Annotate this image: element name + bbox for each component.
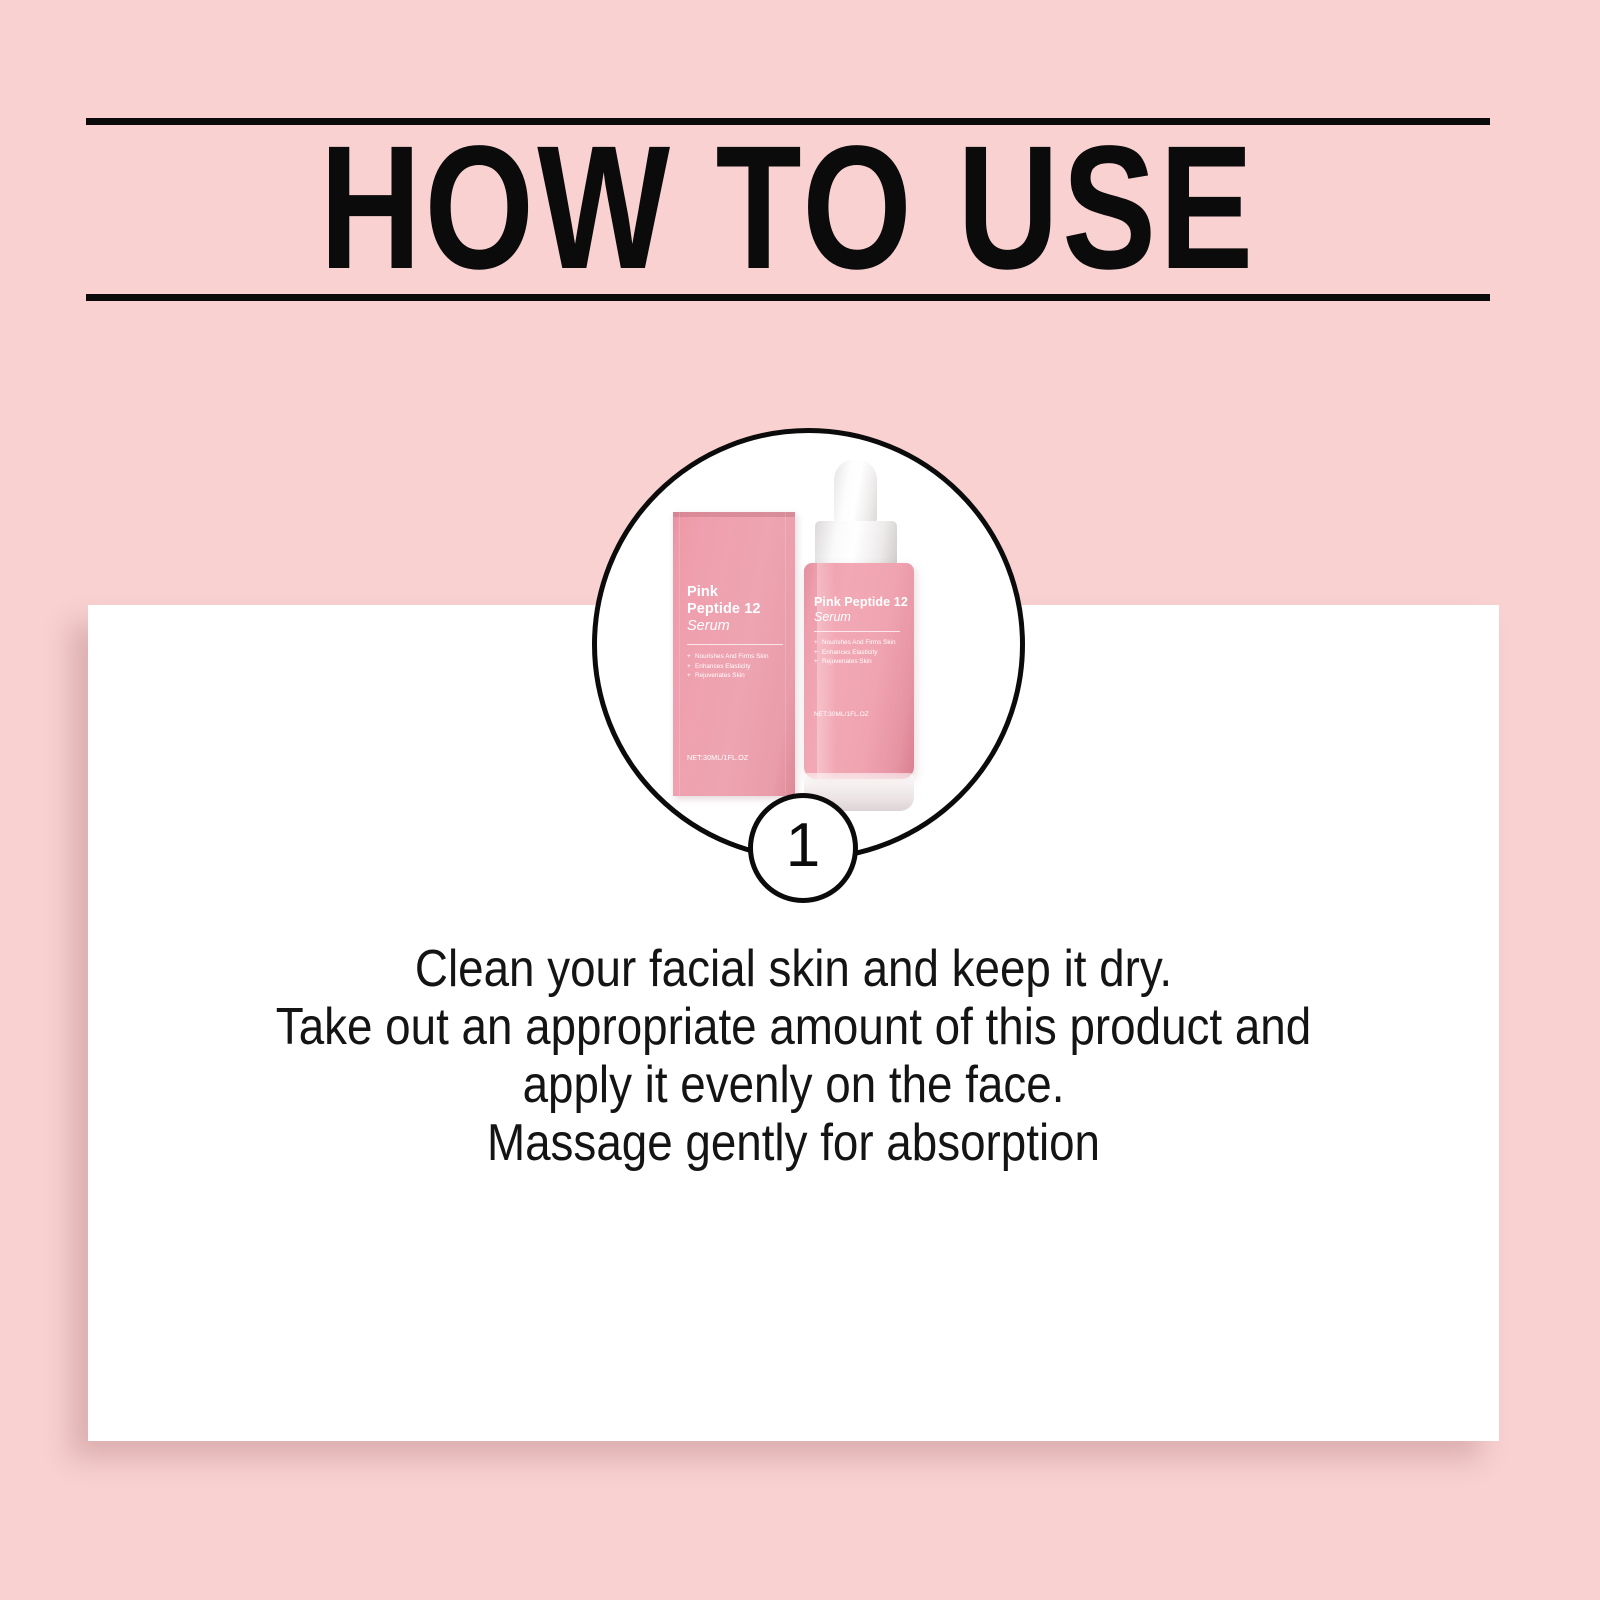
instruction-line: apply it evenly on the face. — [173, 1056, 1415, 1114]
bottle-benefit-label: Nourishes And Firms Skin — [822, 639, 896, 646]
carton-benefit-label: Rejuvenates Skin — [695, 672, 745, 679]
title-rule-bottom — [86, 294, 1490, 301]
bottle-benefit: +Rejuvenates Skin — [814, 657, 909, 667]
carton-brand-line2: Peptide 12 — [687, 601, 785, 618]
bottle-brand: Pink Peptide 12 — [814, 595, 909, 609]
bullet-plus-icon: + — [814, 657, 822, 667]
bottle-benefit: +Enhances Elasticity — [814, 648, 909, 658]
carton-benefit: +Rejuvenates Skin — [687, 671, 785, 681]
carton-benefit-label: Nourishes And Firms Skin — [695, 653, 769, 660]
product-bottle: Pink Peptide 12 Serum +Nourishes And Fir… — [801, 459, 917, 811]
bottle-label: Pink Peptide 12 Serum +Nourishes And Fir… — [814, 595, 909, 667]
dropper-collar — [815, 521, 897, 569]
carton-benefit: +Nourishes And Firms Skin — [687, 652, 785, 662]
carton-brand-line1: Pink — [687, 584, 785, 601]
carton-top-flap — [673, 512, 795, 517]
header-block: HOW TO USE — [86, 110, 1490, 310]
instruction-text: Clean your facial skin and keep it dry. … — [88, 940, 1499, 1172]
bottle-divider — [814, 631, 900, 632]
bottle-benefit-label: Rejuvenates Skin — [822, 658, 872, 665]
bullet-plus-icon: + — [687, 662, 695, 672]
step-number-badge: 1 — [748, 793, 858, 903]
page-title: HOW TO USE — [68, 122, 1508, 294]
instruction-line: Massage gently for absorption — [173, 1114, 1415, 1172]
carton-benefit-label: Enhances Elasticity — [695, 663, 750, 670]
carton-crease-right — [785, 512, 786, 796]
carton-label: Pink Peptide 12 Serum +Nourishes And Fir… — [687, 584, 785, 681]
bottle-subtitle: Serum — [814, 609, 909, 625]
carton-benefit: +Enhances Elasticity — [687, 662, 785, 672]
carton-net-weight: NET:30ML/1FL.OZ — [687, 753, 748, 762]
bottle-benefit: +Nourishes And Firms Skin — [814, 638, 909, 648]
product-carton: Pink Peptide 12 Serum +Nourishes And Fir… — [673, 512, 795, 796]
carton-subtitle: Serum — [687, 617, 785, 636]
bullet-plus-icon: + — [687, 652, 695, 662]
bullet-plus-icon: + — [687, 671, 695, 681]
bottle-net-weight: NET:30ML/1FL.OZ — [814, 711, 869, 718]
bullet-plus-icon: + — [814, 638, 822, 648]
carton-crease-left — [679, 512, 680, 796]
how-to-use-infographic: HOW TO USE Clean your facial skin and ke… — [0, 0, 1600, 1600]
instruction-line: Clean your facial skin and keep it dry. — [173, 940, 1415, 998]
bottle-benefit-label: Enhances Elasticity — [822, 649, 877, 656]
instruction-line: Take out an appropriate amount of this p… — [173, 998, 1415, 1056]
bullet-plus-icon: + — [814, 648, 822, 658]
step-number-label: 1 — [786, 815, 820, 877]
carton-divider — [687, 644, 783, 645]
